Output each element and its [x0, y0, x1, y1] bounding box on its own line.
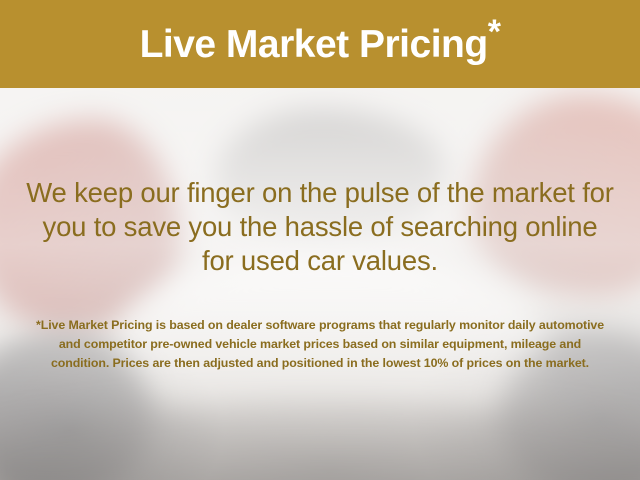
disclaimer-text: *Live Market Pricing is based on dealer … [30, 316, 610, 373]
page-title-asterisk: * [488, 13, 501, 51]
page-title: Live Market Pricing* [140, 25, 501, 64]
page-title-text: Live Market Pricing [140, 23, 488, 66]
header-band: Live Market Pricing* [0, 0, 640, 88]
headline-text: We keep our finger on the pulse of the m… [26, 176, 614, 278]
live-market-pricing-banner: Live Market Pricing* We keep our finger … [0, 0, 640, 480]
content-area: We keep our finger on the pulse of the m… [0, 88, 640, 480]
